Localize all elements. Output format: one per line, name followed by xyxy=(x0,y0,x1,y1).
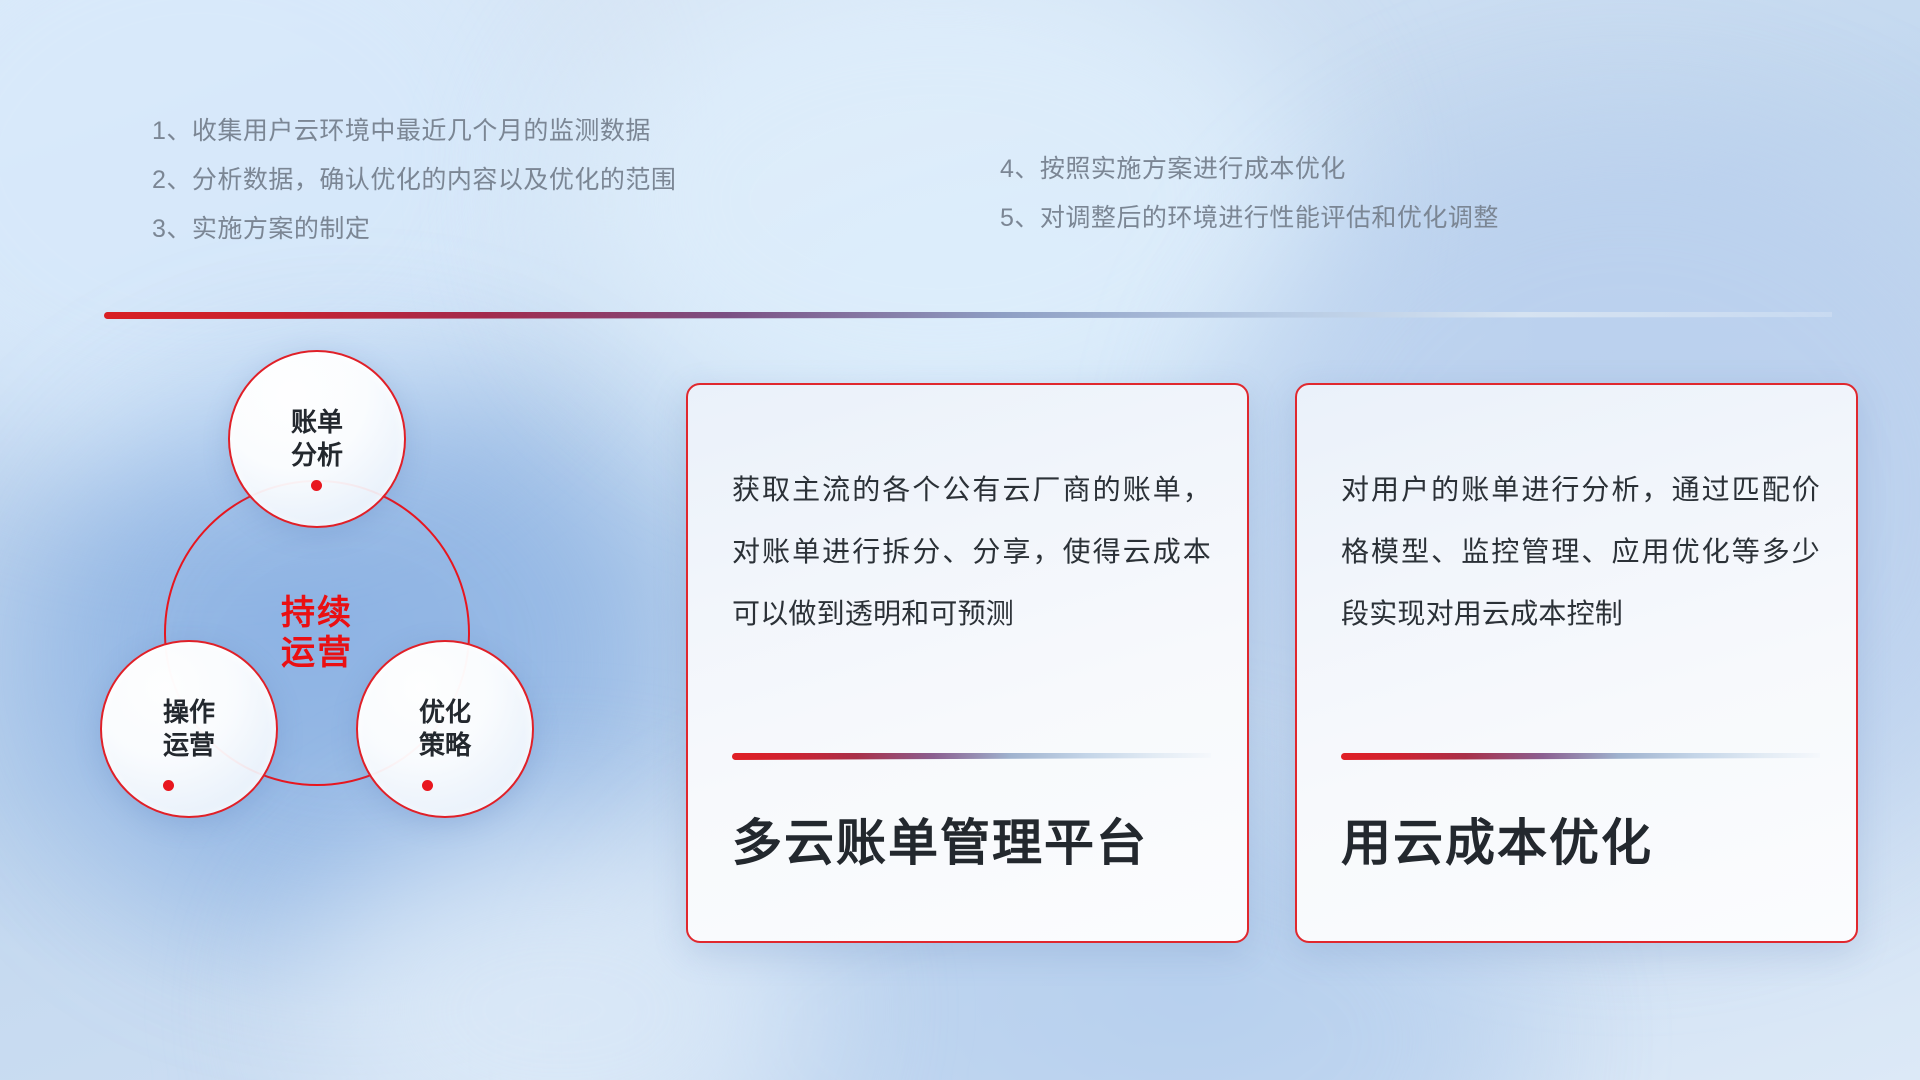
venn-connector-dot xyxy=(163,780,174,791)
bullet-item: 1、收集用户云环境中最近几个月的监测数据 xyxy=(152,119,676,144)
venn-connector-dot xyxy=(422,780,433,791)
card-body-text: 获取主流的各个公有云厂商的账单，对账单进行拆分、分享，使得云成本可以做到透明和可… xyxy=(732,459,1211,645)
venn-diagram: 持续 运营 账单 分析 操作 运营 优化 策略 xyxy=(100,350,620,950)
venn-node-line-2: 分析 xyxy=(291,439,343,472)
feature-card-cloud-cost-optimization[interactable]: 对用户的账单进行分析，通过匹配价格模型、监控管理、应用优化等多少段实现对用云成本… xyxy=(1295,383,1858,943)
card-body-text: 对用户的账单进行分析，通过匹配价格模型、监控管理、应用优化等多少段实现对用云成本… xyxy=(1341,459,1820,645)
bullet-item: 2、分析数据，确认优化的内容以及优化的范围 xyxy=(152,168,676,193)
card-title: 多云账单管理平台 xyxy=(732,815,1219,873)
bullet-item: 4、按照实施方案进行成本优化 xyxy=(1000,157,1499,182)
card-title: 用云成本优化 xyxy=(1341,815,1828,873)
venn-node-billing-analysis[interactable]: 账单 分析 xyxy=(228,350,406,528)
bullet-list-left: 1、收集用户云环境中最近几个月的监测数据 2、分析数据，确认优化的内容以及优化的… xyxy=(152,119,676,242)
venn-node-line-2: 运营 xyxy=(163,729,215,762)
bullet-item: 5、对调整后的环境进行性能评估和优化调整 xyxy=(1000,206,1499,231)
bullet-item: 3、实施方案的制定 xyxy=(152,217,676,242)
gradient-divider xyxy=(104,312,1832,319)
card-gradient-rule xyxy=(732,753,1211,760)
venn-node-line-1: 优化 xyxy=(419,696,471,729)
venn-connector-dot xyxy=(311,480,322,491)
bullet-list-right: 4、按照实施方案进行成本优化 5、对调整后的环境进行性能评估和优化调整 xyxy=(1000,157,1499,231)
venn-node-optimization-strategy[interactable]: 优化 策略 xyxy=(356,640,534,818)
venn-node-operations[interactable]: 操作 运营 xyxy=(100,640,278,818)
slide-canvas: 1、收集用户云环境中最近几个月的监测数据 2、分析数据，确认优化的内容以及优化的… xyxy=(0,0,1920,1080)
feature-card-multicloud-billing[interactable]: 获取主流的各个公有云厂商的账单，对账单进行拆分、分享，使得云成本可以做到透明和可… xyxy=(686,383,1249,943)
venn-node-line-1: 操作 xyxy=(163,696,215,729)
card-gradient-rule xyxy=(1341,753,1820,760)
venn-node-line-1: 账单 xyxy=(291,406,343,439)
venn-node-line-2: 策略 xyxy=(419,729,471,762)
